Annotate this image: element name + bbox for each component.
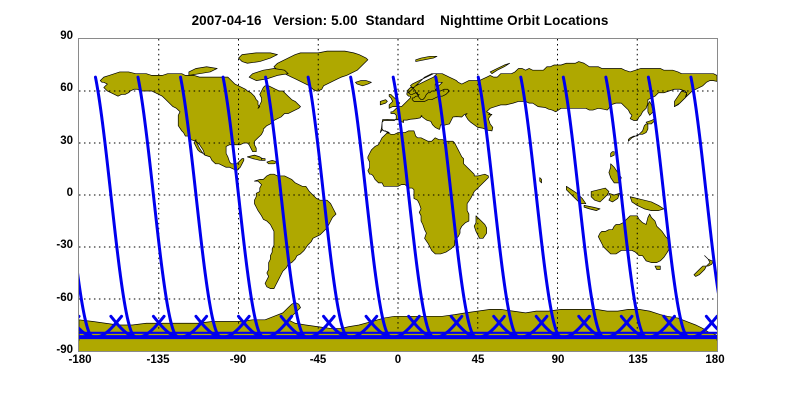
plot-frame (78, 38, 718, 352)
y-tick-label: 60 (60, 82, 73, 94)
x-tick-label: 180 (705, 354, 724, 366)
x-tick-label: -135 (146, 354, 169, 366)
x-tick-label: 90 (552, 354, 565, 366)
figure-title: 2007-04-16 Version: 5.00 Standard Nightt… (0, 13, 800, 28)
x-tick-label: 135 (628, 354, 647, 366)
x-tick-label: 45 (472, 354, 485, 366)
y-tick-label: -30 (56, 239, 73, 251)
world-map-canvas (79, 39, 717, 351)
orbit-map-figure: 2007-04-16 Version: 5.00 Standard Nightt… (0, 0, 800, 400)
x-tick-label: -180 (68, 354, 91, 366)
y-tick-label: 90 (60, 30, 73, 42)
y-axis-tick-labels: 90 60 30 0 -30 -60 -90 (28, 38, 73, 352)
x-tick-label: -90 (230, 354, 247, 366)
plot-area (78, 38, 718, 352)
x-axis-tick-labels: -180 -135 -90 -45 0 45 90 135 180 (78, 354, 718, 376)
y-tick-label: -60 (56, 292, 73, 304)
y-tick-label: 0 (67, 187, 73, 199)
x-tick-label: 0 (395, 354, 401, 366)
x-tick-label: -45 (310, 354, 327, 366)
y-tick-label: 30 (60, 135, 73, 147)
